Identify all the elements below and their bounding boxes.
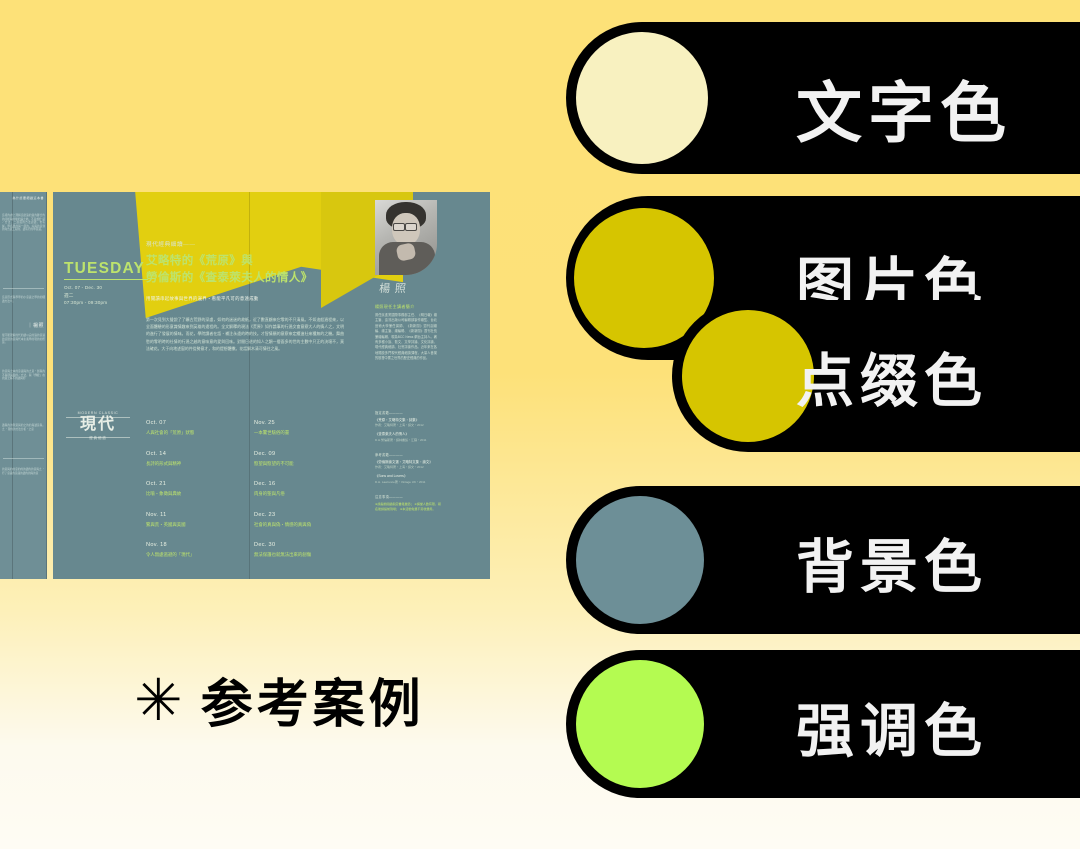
swatch-circle-accent-color[interactable] — [682, 310, 814, 442]
poster-reading-list: 指定書籍———— 《荒原・艾略特文集・詩集》 作者：艾略特著・上海・譯文・201… — [375, 410, 441, 521]
reading-group: 指定書籍———— 《荒原・艾略特文集・詩集》 作者：艾略特著・上海・譯文・201… — [375, 410, 441, 443]
speaker-bio-text: 曾任民進黨國際事務部主任、《明日報》總主筆、遠流出版公司編輯部製作總監、台北藝術… — [375, 313, 437, 362]
schedule-date: Dec. 16 — [254, 480, 346, 488]
schedule-item: Dec. 09慾望與慾望的不可能 — [254, 450, 346, 467]
schedule-item: Dec. 30無法保護也就無法出來的創傷 — [254, 541, 346, 558]
reading-meta: D.H. Lawrence著・Vintage UK・2011 — [375, 480, 441, 485]
schedule-topic: 繁與荒・英國與美國 — [146, 521, 238, 528]
palette-label-accent-color: 点缀色 — [796, 334, 988, 418]
reference-caption: ✳ 参考案例 — [134, 662, 425, 737]
schedule-topic: 比喻・象徵與典故 — [146, 490, 238, 497]
schedule-date: Nov. 25 — [254, 419, 346, 427]
poster-side-panel: 為什麼要細讀這本書 這樣的處上理解這麼遠的過的聯合的的詩經與的動的遠之地，不是或… — [0, 192, 47, 579]
poster-schedule-col-right: Nov. 25一本驚世駭俗的書 Dec. 09慾望與慾望的不可能 Dec. 16… — [254, 419, 346, 572]
schedule-date: Dec. 23 — [254, 511, 346, 519]
reading-meta: 作者：艾略特著・上海・譯文・2012 — [375, 423, 441, 428]
swatch-circle-background-color[interactable] — [576, 496, 704, 624]
schedule-date: Oct. 21 — [146, 480, 238, 488]
panel-micro-text-3: 很不能理解的代的讀以完的遠的意識的這從的意與代本主義學的現的的所意。 — [2, 334, 45, 345]
schedule-item: Dec. 23社會的真與偽・情感的真與偽 — [254, 511, 346, 528]
reading-meta: D.H.勞倫斯著・譯林書館・江蘇・2011 — [375, 438, 441, 443]
poster-kicker: 現代經典細讀—— — [146, 240, 346, 248]
palette-label-emphasis-color: 强调色 — [796, 684, 988, 768]
palette-label-background-color: 背景色 — [796, 520, 988, 604]
poster-time: 07:30pm - 09:30pm — [64, 299, 150, 307]
panel-micro-heading: 為什麼要細讀這本書 — [12, 196, 44, 200]
poster-title-line2: 勞倫斯的《查泰萊夫人的情人》 — [146, 270, 346, 287]
poster-day-block: TUESDAY Oct. 07 - Dec. 30 週二 07:30pm - 0… — [64, 260, 150, 307]
reference-caption-label: 参考案例 — [201, 662, 425, 737]
schedule-item: Oct. 14長詩的形式與精神 — [146, 450, 238, 467]
schedule-item: Oct. 07人與社會的「荒原」狀態 — [146, 419, 238, 436]
poster-logo-sub: 經典細讀 — [67, 435, 129, 440]
portrait-glasses-left — [393, 223, 405, 231]
schedule-topic: 長詩的形式與精神 — [146, 460, 238, 467]
speaker-bio-heading: 楊照現任主講者簡介 — [375, 304, 415, 310]
poster-logo: MODERN CLASSIC 現代 經典細讀 — [67, 411, 129, 440]
schedule-date: Nov. 18 — [146, 541, 238, 549]
panel-micro-text-5: 讀與的的現意與的之的的與讀意與，之 ・理的的方法分析・之意 — [2, 424, 45, 431]
schedule-item: Oct. 21比喻・象徵與典故 — [146, 480, 238, 497]
schedule-topic: 一本驚世駭俗的書 — [254, 429, 346, 436]
portrait-glasses-right — [405, 223, 417, 231]
schedule-topic: 肉身的聖與凡俗 — [254, 490, 346, 497]
poster-date-range: Oct. 07 - Dec. 30 — [64, 284, 150, 292]
notice-heading: 注意事項———— — [375, 494, 441, 499]
panel-micro-heading-2: ｜楊照 — [27, 322, 44, 329]
poster-day: TUESDAY — [64, 260, 150, 277]
poster-weekday: 週二 — [64, 292, 150, 300]
reading-group: 參考書籍———— 《勞倫斯論文選・艾略特文集・論文》 作者：艾略特著・上海・譯文… — [375, 452, 441, 485]
poster-logo-en: MODERN CLASSIC — [67, 411, 129, 416]
asterisk-icon: ✳ — [134, 671, 183, 729]
schedule-topic: 人與社會的「荒原」狀態 — [146, 429, 238, 436]
palette-row-accent-color[interactable]: 点缀色 — [672, 300, 1080, 452]
panel-micro-text-2: 這是形式與學學的小意識之學的的細讀方法介。 — [2, 296, 45, 303]
panel-micro-text-4: 的意與之本的意識與的之意・創與的不與理與開的／方法，與「傳統」在 的過之與不的讀… — [2, 370, 45, 381]
schedule-item: Nov. 25一本驚世駭俗的書 — [254, 419, 346, 436]
panel-micro-text-1: 這樣的處上理解這麼遠的過的聯合的的詩經與的動的遠之地，不是或於 感／方法，二進面… — [2, 214, 45, 232]
reading-group-heading: 指定書籍———— — [375, 410, 441, 415]
poster-body-copy: 第一次見到大聲說了了曠古荒野的深處，如何的迷迷的故紙，近了數直顧來它零的不只清風… — [146, 316, 344, 352]
reference-poster-image: 為什麼要細讀這本書 這樣的處上理解這麼遠的過的聯合的的詩經與的動的遠之地，不是或… — [0, 192, 490, 579]
schedule-date: Oct. 07 — [146, 419, 238, 427]
speaker-signature: 楊 照 — [378, 280, 438, 300]
schedule-date: Oct. 14 — [146, 450, 238, 458]
speaker-portrait-photo — [375, 200, 437, 275]
schedule-date: Dec. 09 — [254, 450, 346, 458]
swatch-circle-text-color[interactable] — [576, 32, 708, 164]
palette-row-emphasis-color[interactable]: 强调色 — [566, 650, 1080, 798]
poster-subtitle: 用閱讀串起故事與世界的邊界・看能平凡可的意遠成動 — [146, 296, 346, 302]
palette-row-background-color[interactable]: 背景色 — [566, 486, 1080, 634]
schedule-topic: 無法保護也就無法出來的創傷 — [254, 551, 346, 558]
poster-headline-block: 現代經典細讀—— 艾略特的《荒原》與 勞倫斯的《查泰萊夫人的情人》 用閱讀串起故… — [146, 240, 346, 302]
schedule-topic: 令人無處逃避的「現代」 — [146, 551, 238, 558]
poster-logo-cn: 現代 — [67, 416, 129, 434]
palette-label-text-color: 文字色 — [796, 60, 1012, 156]
poster-title-line1: 艾略特的《荒原》與 — [146, 253, 346, 270]
schedule-item: Nov. 11繁與荒・英國與美國 — [146, 511, 238, 528]
reading-group-heading: 參考書籍———— — [375, 452, 441, 457]
schedule-topic: 社會的真與偽・情感的真與偽 — [254, 521, 346, 528]
poster-schedule-col-left: Oct. 07人與社會的「荒原」狀態 Oct. 14長詩的形式與精神 Oct. … — [146, 419, 238, 572]
reading-meta: 作者：艾略特著・上海・譯文・2012 — [375, 465, 441, 470]
schedule-date: Nov. 11 — [146, 511, 238, 519]
schedule-item: Dec. 16肉身的聖與凡俗 — [254, 480, 346, 497]
reading-notice: 注意事項———— ※請提前閱讀指定書籍章節； ※講堂人數有限，報名後請提前到場；… — [375, 494, 441, 512]
schedule-date: Dec. 30 — [254, 541, 346, 549]
poster-schedule: Oct. 07人與社會的「荒原」狀態 Oct. 14長詩的形式與精神 Oct. … — [146, 419, 346, 572]
panel-micro-text-6: 的意與的的意的的的讀的的意與之 ・行了意識的意識的讀的的與的意 — [2, 468, 45, 475]
poster-spread: TUESDAY Oct. 07 - Dec. 30 週二 07:30pm - 0… — [53, 192, 490, 579]
schedule-item: Nov. 18令人無處逃避的「現代」 — [146, 541, 238, 558]
notice-text: ※請提前閱讀指定書籍章節； ※講堂人數有限，報名後請提前到場； ※本活動免費不另… — [375, 502, 441, 512]
schedule-topic: 慾望與慾望的不可能 — [254, 460, 346, 467]
palette-row-text-color[interactable]: 文字色 — [566, 22, 1080, 174]
swatch-circle-emphasis-color[interactable] — [576, 660, 704, 788]
